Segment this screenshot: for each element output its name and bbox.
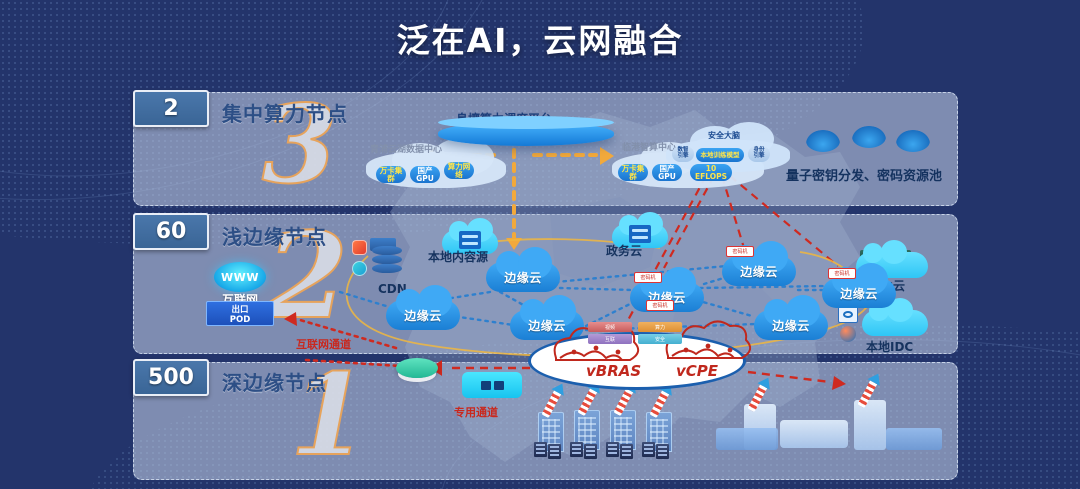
- server-rack-3: [570, 442, 583, 457]
- exit-pod-box: 出口 POD: [206, 301, 274, 326]
- server-rack-6: [620, 444, 633, 459]
- industrial-plant: [780, 420, 848, 448]
- row-badge-count-60: 60: [133, 213, 209, 250]
- gov-cloud-rack-icon: [629, 225, 651, 243]
- row-label-deep-edge: 深边缘节点: [222, 367, 327, 396]
- app-icon-play: [352, 261, 367, 276]
- qingpu-chip-gpu: 国产GPU: [410, 166, 440, 183]
- service-tag-video: 视频: [588, 322, 632, 332]
- identity-engine-chip: 身份引擎: [748, 146, 770, 162]
- vcpe-label: vCPE: [676, 362, 718, 380]
- server-rack-5: [606, 442, 619, 457]
- edge-cloud-2: 边缘云: [386, 300, 460, 330]
- lingang-chip-wanka: 万卡集群: [618, 164, 648, 181]
- server-rack-2: [548, 444, 561, 459]
- qingpu-dc-label: 青浦云湖数据中心: [370, 142, 442, 155]
- edge-cloud-5: 边缘云: [722, 256, 796, 286]
- industrial-tower-2: [854, 400, 886, 450]
- dedicated-channel-label: 专用通道: [454, 404, 498, 420]
- gov-cloud-label: 政务云: [606, 242, 642, 259]
- cdn-storage-icon: [372, 246, 402, 280]
- lingang-dc-label: 临港智算中心: [622, 140, 676, 153]
- edge-cloud-6: 边缘云: [754, 310, 828, 340]
- local-training-model-chip: 本地训练模型: [696, 148, 744, 162]
- server-rack-7: [642, 442, 655, 457]
- vbras-vcpe-blob: [528, 332, 746, 390]
- lingang-chip-eflops: 10 EFLOPS: [690, 164, 732, 181]
- scheduling-platform-disc: [438, 122, 614, 146]
- lingang-chip-gpu: 国产GPU: [652, 164, 682, 181]
- globe-small-icon: [840, 326, 856, 342]
- app-icon-red: [352, 240, 367, 255]
- industrial-base-2: [886, 428, 942, 450]
- slide-root: 泛在AI，云网融合 2 集中算力节点 3 60 浅边缘节点 2 500 深边缘节…: [0, 0, 1080, 489]
- local-content-label: 本地内容源: [428, 248, 488, 265]
- security-brain-title: 安全大脑: [708, 130, 740, 141]
- www-globe-icon: WWW: [214, 262, 266, 292]
- vbras-label: vBRAS: [586, 362, 641, 380]
- crypto-tag-2: 密码机: [726, 246, 754, 257]
- data-intelligence-engine-chip: 数智引擎: [672, 146, 694, 162]
- video-icon: [481, 381, 491, 390]
- row-label-shallow-edge: 浅边缘节点: [222, 221, 327, 250]
- server-rack-8: [656, 444, 669, 459]
- crypto-tag-4: 密码机: [828, 268, 856, 279]
- quantum-node-2: [852, 126, 886, 148]
- edge-cloud-3: 边缘云: [510, 310, 584, 340]
- edge-cloud-1: 边缘云: [486, 262, 560, 292]
- www-globe-text: WWW: [221, 271, 259, 284]
- local-idc-cloud: [862, 310, 928, 336]
- access-device-puck: [396, 358, 438, 378]
- service-tag-security: 安全: [638, 334, 682, 344]
- quantum-node-3: [896, 130, 930, 152]
- server-rack-4: [584, 444, 597, 459]
- row-badge-count-2: 2: [133, 90, 209, 127]
- quantum-node-1: [806, 130, 840, 152]
- row-badge-count-500: 500: [133, 359, 209, 396]
- quantum-resource-label: 量子密钥分发、密码资源池: [786, 165, 942, 184]
- qingpu-chip-network: 算力网络: [444, 162, 474, 179]
- crypto-tag-3: 密码机: [646, 300, 674, 311]
- crypto-tag-1: 密码机: [634, 272, 662, 283]
- media-service-tube: [462, 372, 522, 398]
- service-tag-interconnect: 互联: [588, 334, 632, 344]
- industrial-base-1: [716, 428, 778, 450]
- service-tag-compute: 算力: [638, 322, 682, 332]
- internet-channel-label: 互联网通道: [296, 336, 351, 352]
- exit-pod-bottom-label: POD: [230, 315, 251, 325]
- exit-pod-top-label: 出口: [231, 303, 248, 315]
- local-idc-label: 本地IDC: [866, 338, 913, 355]
- qingpu-chip-wanka: 万卡集群: [376, 166, 406, 183]
- edge-cloud-7: 边缘云: [822, 278, 896, 308]
- local-content-rack-icon: [459, 231, 481, 249]
- row-label-central: 集中算力节点: [222, 98, 348, 127]
- slide-title: 泛在AI，云网融合: [0, 14, 1080, 62]
- game-icon: [494, 381, 504, 390]
- server-rack-1: [534, 442, 547, 457]
